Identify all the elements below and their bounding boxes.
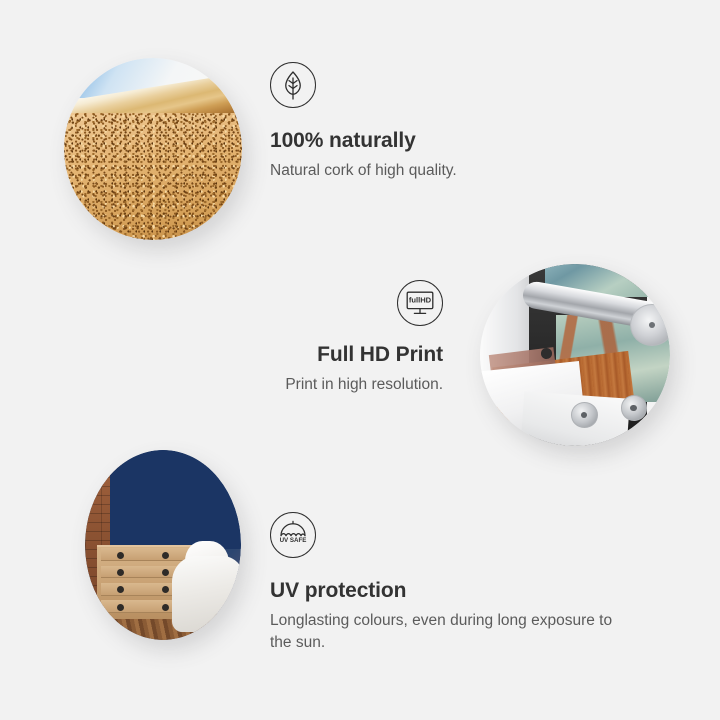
white-armchair [172,556,241,632]
printing-photo-inner [480,264,670,446]
interior-photo-inner [85,450,241,640]
feature-fullhd-title: Full HD Print [243,342,443,367]
leaf-icon [270,62,316,108]
monitor-fullhd-icon-label: fullHD [409,296,432,305]
printer-knob-left [571,402,598,428]
printing-machine-photo [480,264,670,446]
feature-natural-description: Natural cork of high quality. [270,160,570,182]
cork-grain-layer [64,113,242,240]
world-map-poster-layer [110,450,241,549]
feature-uv-title: UV protection [270,578,636,603]
product-features-panel: 100% naturally Natural cork of high qual… [0,0,720,720]
feature-fullhd-description: Print in high resolution. [243,374,443,396]
cork-photo-inner [64,58,242,240]
feature-natural: 100% naturally Natural cork of high qual… [270,62,570,182]
printer-roller-cap [630,304,670,346]
umbrella-uv-safe-icon: UV SAFE [270,512,316,558]
umbrella-uv-safe-icon-label: UV SAFE [280,537,307,544]
feature-uv-description: Longlasting colours, even during long ex… [270,610,636,654]
feature-uv: UV SAFE UV protection Longlasting colour… [270,512,636,654]
monitor-fullhd-icon: fullHD [397,280,443,326]
printer-bolt [541,348,552,359]
feature-natural-title: 100% naturally [270,128,570,153]
feature-fullhd: fullHD Full HD Print Print in high resol… [243,280,443,396]
cork-close-up-photo [64,58,242,240]
printer-knob-right [621,395,648,421]
dresser-drawer [101,548,190,561]
interior-world-map-photo [85,450,241,640]
